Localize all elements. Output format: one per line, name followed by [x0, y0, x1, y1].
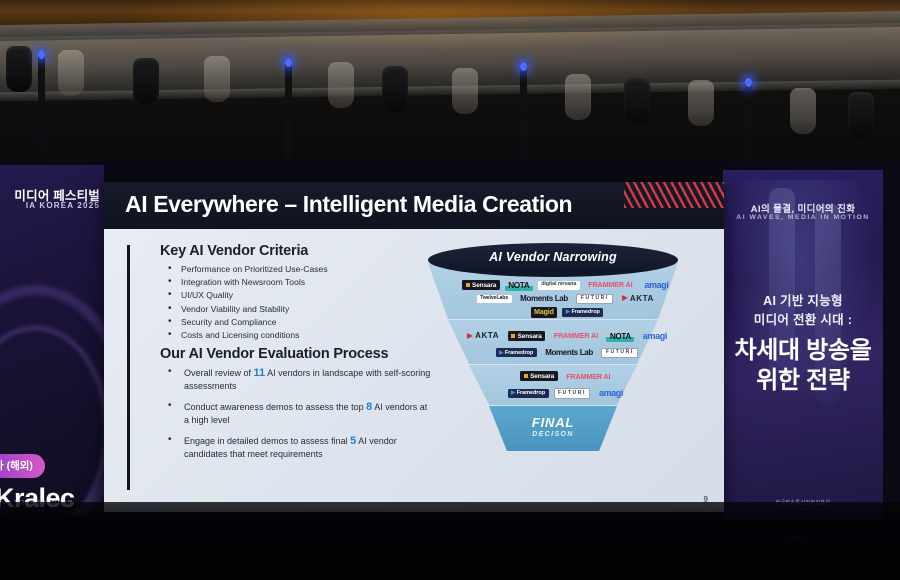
vendor-logo-moments-lab: Moments Lab — [542, 347, 597, 359]
vendor-logo-akta: AKTA — [618, 293, 657, 305]
stage-light-fixture — [382, 66, 408, 112]
vendor-logo-amagi: amagi — [641, 279, 672, 292]
list-item: UI/UX Quality — [164, 289, 414, 302]
vendor-logo-frammer-ai: FRAMMER AI — [550, 331, 601, 342]
led-strip — [38, 50, 45, 155]
funnel-cap-label: AI Vendor Narrowing — [428, 250, 678, 264]
session-title-2: 위한 전략 — [723, 360, 883, 395]
led-strip — [285, 58, 292, 163]
funnel-stage1-row1: Sensara NOTA digital nirvana FRAMMER AI … — [422, 279, 712, 292]
vendor-logo-moments-lab: Moments Lab — [517, 293, 572, 305]
hatch-accent-icon — [624, 182, 724, 208]
stage-light-fixture — [790, 88, 816, 134]
stage-light-fixture — [328, 62, 354, 108]
vendor-logo-nota: NOTA — [505, 279, 533, 291]
vendor-logo-framedrop: ▶Framedrop — [562, 308, 603, 317]
slide-title-bar: AI Everywhere – Intelligent Media Creati… — [104, 182, 724, 229]
stage-light-fixture — [133, 58, 159, 104]
criteria-list: Performance on Prioritized Use-Cases Int… — [164, 263, 414, 342]
section-heading-process: Our AI Vendor Evaluation Process — [160, 346, 388, 362]
vendor-logo-amagi: amagi — [639, 330, 670, 343]
list-item: Integration with Newsroom Tools — [164, 276, 414, 289]
vendor-logo-digital-nirvana: digital nirvana — [538, 281, 580, 290]
vendor-logo-sensara: Sensara — [508, 331, 546, 341]
vendor-logo-nota: NOTA — [606, 330, 634, 342]
conference-stage: 미디어 페스티벌 IA KOREA 2025 사 (해외) Kralec ADC… — [0, 0, 900, 580]
stage-light-fixture — [452, 68, 478, 114]
highlight-number: 11 — [254, 367, 266, 379]
funnel-stage1-row3: Magid ▶Framedrop — [422, 307, 712, 318]
vendor-logo-framedrop: ▶Framedrop — [496, 348, 537, 357]
funnel-stage3-row1: Sensara FRAMMER AI — [422, 371, 712, 382]
session-line-1: AI 기반 지능형 — [723, 290, 883, 309]
vendor-logo-magid: Magid — [531, 307, 558, 318]
funnel-stage2-row2: ▶Framedrop Moments Lab FUTURI — [422, 347, 712, 359]
stage-light-fixture — [688, 80, 714, 126]
vendor-logo-akta: AKTA — [464, 331, 503, 343]
vendor-logo-sensara: Sensara — [462, 280, 500, 290]
slide-title: AI Everywhere – Intelligent Media Creati… — [125, 191, 572, 218]
stage-light-fixture — [6, 46, 32, 92]
stage-light-fixture — [58, 50, 84, 96]
festival-subtitle: IA KOREA 2025 — [0, 201, 104, 210]
stage-light-fixture — [624, 78, 650, 124]
list-item: Security and Compliance — [164, 316, 414, 329]
list-item: Overall review of 11 AI vendors in lands… — [164, 367, 432, 392]
session-line-2: 미디어 전환 시대 : — [723, 309, 883, 328]
funnel-stage2-row1: AKTA Sensara FRAMMER AI NOTA amagi — [422, 330, 712, 343]
list-item: Performance on Prioritized Use-Cases — [164, 263, 414, 276]
stage-light-fixture — [848, 92, 874, 138]
vendor-logo-futuri: FUTURI — [576, 294, 613, 305]
list-item: Costs and Licensing conditions — [164, 329, 414, 342]
ceiling-truss — [0, 0, 900, 170]
foreground-shadow — [0, 502, 900, 580]
vendor-logo-twelvelabs: TwelveLabs — [477, 295, 512, 304]
stage-light-fixture — [565, 74, 591, 120]
bullet-text-pre: Overall review of — [184, 368, 254, 378]
vendor-logo-sensara: Sensara — [520, 371, 558, 381]
vendor-logo-frammer-ai: FRAMMER AI — [563, 371, 614, 382]
vendor-logo-frammer-ai: FRAMMER AI — [585, 280, 636, 291]
list-item: Vendor Viability and Stability — [164, 303, 414, 316]
funnel-stage1-row2: TwelveLabs Moments Lab FUTURI AKTA — [422, 293, 712, 305]
led-strip — [520, 62, 527, 167]
theme-headline-en: AI WAVES, MEDIA IN MOTION — [723, 214, 883, 221]
section-heading-criteria: Key AI Vendor Criteria — [160, 243, 308, 259]
stage-light-fixture — [204, 56, 230, 102]
theme-headline-kr: AI의 물결, 미디어의 진화 — [723, 201, 883, 215]
vendor-logo-futuri: FUTURI — [601, 348, 638, 359]
audience-silhouettes — [0, 395, 900, 580]
